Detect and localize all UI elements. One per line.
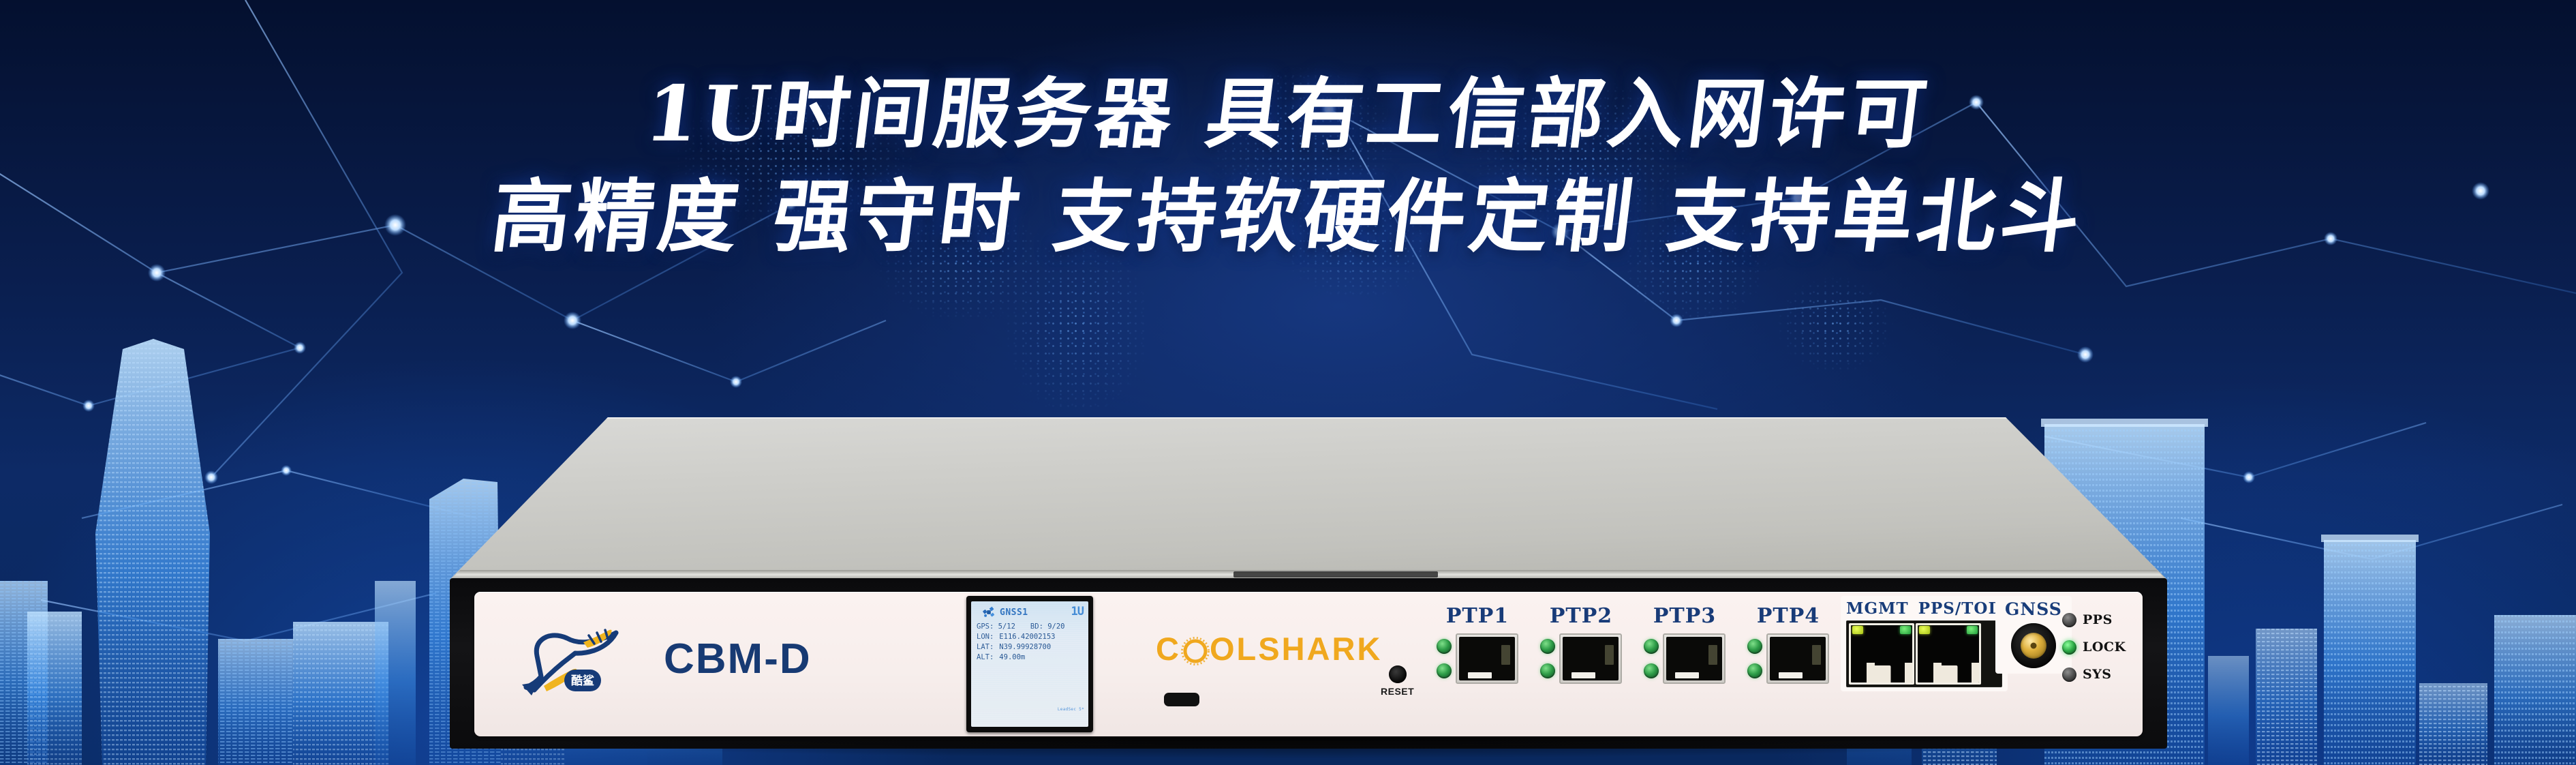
usb-port-icon[interactable]	[1164, 693, 1199, 706]
sfp-cage-1[interactable]	[1456, 633, 1518, 684]
ptp-label-3: PTP3	[1653, 604, 1716, 628]
gnss-antenna-block: GNSS	[1995, 596, 2072, 674]
sma-connector-icon[interactable]	[2011, 623, 2056, 668]
status-led-pps: PPS	[2062, 612, 2126, 627]
time-server-device: 酷鲨 CBM-D GNSS1 1	[450, 417, 2167, 765]
ptp-port-2[interactable]: PTP2	[1540, 604, 1622, 684]
lcd-row-longitude: LON: E116.42002153	[971, 631, 1088, 641]
product-banner: 1U时间服务器 具有工信部入网许可 高精度 强守时 支持软硬件定制 支持单北斗 …	[0, 0, 2576, 765]
lcd-row-latitude: LAT: N39.99928700	[971, 641, 1088, 651]
gnss-label: GNSS	[2005, 599, 2062, 619]
sys-led-label: SYS	[2083, 667, 2112, 682]
pps-led-label: PPS	[2083, 612, 2113, 627]
lock-led-icon	[2062, 640, 2076, 655]
ptp-port-3[interactable]: PTP3	[1644, 604, 1726, 684]
ptp-led-pair-1	[1437, 639, 1452, 678]
device-front-panel: 酷鲨 CBM-D GNSS1 1	[474, 592, 2143, 736]
lock-led-label: LOCK	[2083, 640, 2126, 655]
ptp-led-pair-3	[1644, 639, 1659, 678]
reset-button[interactable]: RESET	[1381, 665, 1414, 697]
ptp-label-2: PTP2	[1550, 604, 1612, 628]
rj45-led-green-icon	[1967, 626, 1978, 634]
brand-block: 酷鲨 CBM-D	[507, 611, 812, 706]
ptp-led-top-icon	[1437, 639, 1452, 654]
lcd-row-altitude: ALT: 49.00m	[971, 651, 1088, 661]
lcd-gps-label: GPS:	[977, 622, 994, 631]
lcd-title: GNSS1	[1000, 607, 1028, 618]
rj45-port-block: MGMT PPS/TOD	[1841, 596, 2008, 691]
ptp-port-1[interactable]: PTP1	[1437, 604, 1518, 684]
rj45-led-amber-icon	[1919, 626, 1930, 634]
lcd-lon-label: LON:	[977, 633, 994, 641]
svg-text:酷鲨: 酷鲨	[571, 674, 594, 688]
ptp-led-top-icon	[1540, 639, 1555, 654]
rj45-port-mgmt[interactable]	[1849, 623, 1914, 685]
ptp-label-1: PTP1	[1446, 604, 1509, 628]
coolshark-text-c: C	[1156, 630, 1181, 667]
banner-headline: 1U时间服务器 具有工信部入网许可 高精度 强守时 支持软硬件定制 支持单北斗	[0, 76, 2576, 256]
lcd-alt-value: 49.00m	[999, 653, 1025, 661]
lcd-lat-value: N39.99928700	[999, 643, 1051, 651]
lcd-gps-value: 5/12	[998, 622, 1015, 631]
ptp-led-pair-2	[1540, 639, 1555, 678]
lcd-alt-label: ALT:	[977, 653, 994, 661]
ptp-led-bottom-icon	[1540, 663, 1555, 678]
lcd-bd-value: 9/20	[1047, 622, 1064, 631]
coolshark-wordmark: C OLSHARK	[1156, 630, 1382, 667]
ptp-port-4[interactable]: PTP4	[1747, 604, 1829, 684]
lcd-display[interactable]: GNSS1 1U GPS: 5/12 BD: 9/20 LON: E116.42…	[966, 596, 1093, 732]
device-top-cover	[450, 417, 2167, 580]
status-led-lock: LOCK	[2062, 640, 2126, 655]
coolshark-text-rest: OLSHARK	[1210, 630, 1382, 667]
headline-line-2: 高精度 强守时 支持软硬件定制 支持单北斗	[0, 177, 2576, 256]
pps-led-icon	[2062, 613, 2076, 627]
ptp-label-4: PTP4	[1757, 604, 1820, 628]
rj45-led-green-icon	[1900, 626, 1911, 634]
coolshark-logo-o-icon	[1181, 635, 1210, 663]
lcd-row-satellites: GPS: 5/12 BD: 9/20	[971, 620, 1088, 631]
rj45-port-pps-tod[interactable]	[1916, 623, 1981, 685]
device-top-vent	[1233, 571, 1438, 577]
sfp-cage-4[interactable]	[1766, 633, 1829, 684]
ptp-led-top-icon	[1747, 639, 1762, 654]
sfp-cage-2[interactable]	[1559, 633, 1622, 684]
device-model-label: CBM-D	[664, 635, 812, 683]
rj45-label-pps-tod: PPS/TOD	[1918, 599, 2003, 618]
status-led-group: PPS LOCK SYS	[2062, 612, 2126, 682]
status-led-sys: SYS	[2062, 667, 2126, 682]
ptp-port-bank: PTP1 PTP2	[1437, 604, 1829, 684]
ptp-led-top-icon	[1644, 639, 1659, 654]
reset-pinhole-icon[interactable]	[1389, 665, 1407, 683]
ptp-led-bottom-icon	[1437, 663, 1452, 678]
reset-label: RESET	[1381, 686, 1414, 697]
lcd-lat-label: LAT:	[977, 643, 994, 651]
ptp-led-pair-4	[1747, 639, 1762, 678]
rj45-label-mgmt: MGMT	[1846, 599, 1909, 618]
lcd-lon-value: E116.42002153	[999, 633, 1055, 641]
headline-line-1: 1U时间服务器 具有工信部入网许可	[0, 76, 2576, 153]
lcd-corner-indicator: 1U	[1071, 605, 1084, 618]
shark-logo-icon: 酷鲨	[507, 611, 637, 706]
sys-led-icon	[2062, 667, 2076, 682]
ptp-led-bottom-icon	[1747, 663, 1762, 678]
sfp-cage-3[interactable]	[1663, 633, 1726, 684]
device-drop-shadow	[511, 738, 2106, 758]
lcd-footer-note: LeadSec 5*	[1058, 707, 1084, 712]
lcd-bd-label: BD:	[1030, 622, 1043, 631]
satellite-icon	[982, 606, 996, 618]
ptp-led-bottom-icon	[1644, 663, 1659, 678]
lcd-header: GNSS1 1U	[971, 601, 1088, 620]
rj45-led-amber-icon	[1852, 626, 1863, 634]
